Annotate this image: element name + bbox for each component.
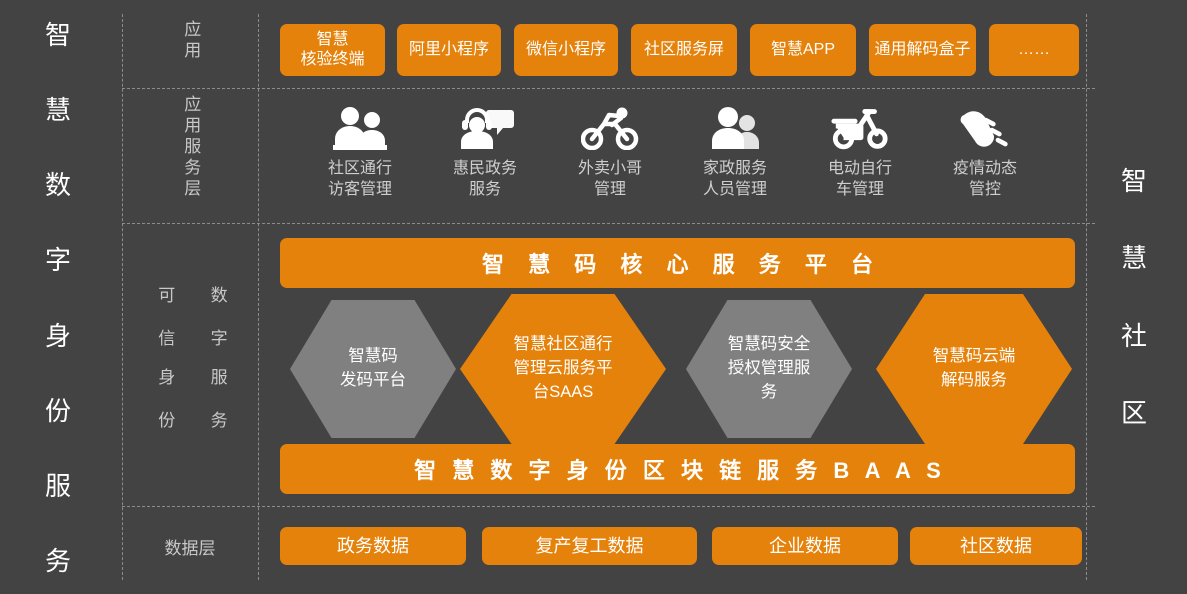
app-pill-more[interactable]: …… (989, 24, 1079, 76)
trusted-identity-text: 可信 (148, 286, 180, 372)
trusted-identity-column-right-2: 服务 (200, 368, 232, 454)
divider-vertical-left (122, 14, 123, 580)
scooter-icon (830, 100, 890, 150)
trusted-identity-text: 服务 (200, 368, 232, 454)
headset-agent-icon (455, 100, 515, 150)
app-pill-alipay-mini-program[interactable]: 阿里小程序 (397, 24, 501, 76)
divider-row-service (122, 223, 1095, 224)
service-epidemic-monitoring[interactable]: 疫情动态 管控 (933, 100, 1037, 200)
service-label: 社区通行 访客管理 (328, 158, 392, 200)
two-people-icon (330, 100, 390, 150)
service-label: 惠民政务 服务 (453, 158, 517, 200)
hexagon-security-authorization[interactable]: 智慧码安全 授权管理服 务 (686, 300, 852, 438)
left-title-char: 身 (45, 323, 71, 349)
architecture-diagram: 智 慧 数 字 身 份 服 务 智 慧 社 区 应用 应用服务层 数字 可信 服… (0, 0, 1187, 594)
service-label: 家政服务 人员管理 (703, 158, 767, 200)
service-housekeeping-staff[interactable]: 家政服务 人员管理 (683, 100, 787, 200)
service-delivery-rider[interactable]: 外卖小哥 管理 (558, 100, 662, 200)
hexagon-label: 智慧社区通行 管理云服务平 台SAAS (474, 333, 652, 405)
right-title-char: 智 (1121, 168, 1147, 194)
row-label-trusted-identity: 数字 可信 (148, 286, 233, 372)
row-label-application-service-text: 应用服务层 (179, 95, 201, 200)
left-title-char: 服 (45, 473, 71, 499)
core-platform-bar[interactable]: 智 慧 码 核 心 服 务 平 台 (280, 238, 1075, 288)
row-label-application-text: 应用 (179, 20, 201, 62)
app-pill-community-service-screen[interactable]: 社区服务屏 (631, 24, 737, 76)
service-ebike-management[interactable]: 电动自行 车管理 (808, 100, 912, 200)
app-pill-smart-verify-terminal[interactable]: 智慧 核验终端 (280, 24, 385, 76)
data-pill-resumption-data[interactable]: 复产复工数据 (482, 527, 697, 565)
service-government-affairs[interactable]: 惠民政务 服务 (433, 100, 537, 200)
service-community-access-visitor[interactable]: 社区通行 访客管理 (308, 100, 412, 200)
service-label: 疫情动态 管控 (953, 158, 1017, 200)
left-title-char: 务 (45, 548, 71, 574)
app-pill-universal-decode-box[interactable]: 通用解码盒子 (869, 24, 976, 76)
divider-row-application (122, 88, 1095, 89)
hexagon-cloud-decoding-service[interactable]: 智慧码云端 解码服务 (876, 294, 1072, 444)
hexagon-label: 智慧码云端 解码服务 (890, 345, 1058, 393)
row-label-trusted-identity-2: 服务 身份 (148, 368, 233, 454)
people-group-icon (705, 100, 765, 150)
data-pill-government-data[interactable]: 政务数据 (280, 527, 466, 565)
service-label: 电动自行 车管理 (828, 158, 892, 200)
right-title-char: 区 (1121, 400, 1147, 426)
trusted-identity-column-left-2: 身份 (148, 368, 180, 454)
right-title-char: 慧 (1121, 245, 1147, 271)
right-title-char: 社 (1121, 323, 1147, 349)
trusted-identity-column-right: 数字 (200, 286, 232, 372)
divider-row-data (122, 506, 1095, 507)
data-pill-community-data[interactable]: 社区数据 (910, 527, 1082, 565)
hexagon-label: 智慧码 发码平台 (304, 345, 442, 393)
right-vertical-title: 智 慧 社 区 (1104, 168, 1164, 426)
left-vertical-title: 智 慧 数 字 身 份 服 务 (28, 22, 88, 574)
data-pill-enterprise-data[interactable]: 企业数据 (712, 527, 898, 565)
left-title-char: 数 (45, 172, 71, 198)
app-pill-smart-app[interactable]: 智慧APP (750, 24, 856, 76)
row-label-application-service: 应用服务层 (160, 95, 220, 200)
left-title-char: 慧 (45, 97, 71, 123)
left-title-char: 字 (45, 247, 71, 273)
left-title-char: 智 (45, 22, 71, 48)
divider-vertical-mid (258, 14, 259, 580)
trusted-identity-text: 身份 (148, 368, 180, 454)
megaphone-icon (955, 100, 1015, 150)
hexagon-label: 智慧码安全 授权管理服 务 (700, 333, 838, 405)
left-title-char: 份 (45, 398, 71, 424)
trusted-identity-column-left: 可信 (148, 286, 180, 372)
divider-vertical-right (1086, 14, 1087, 580)
hexagon-code-issuing-platform[interactable]: 智慧码 发码平台 (290, 300, 456, 438)
cyclist-icon (580, 100, 640, 150)
baas-bar[interactable]: 智 慧 数 字 身 份 区 块 链 服 务 B A A S (280, 444, 1075, 494)
row-label-application: 应用 (160, 20, 220, 62)
app-pill-wechat-mini-program[interactable]: 微信小程序 (514, 24, 618, 76)
service-label: 外卖小哥 管理 (578, 158, 642, 200)
trusted-identity-text: 数字 (200, 286, 232, 372)
hexagon-community-access-saas[interactable]: 智慧社区通行 管理云服务平 台SAAS (460, 294, 666, 444)
row-label-data-layer: 数据层 (130, 534, 250, 559)
